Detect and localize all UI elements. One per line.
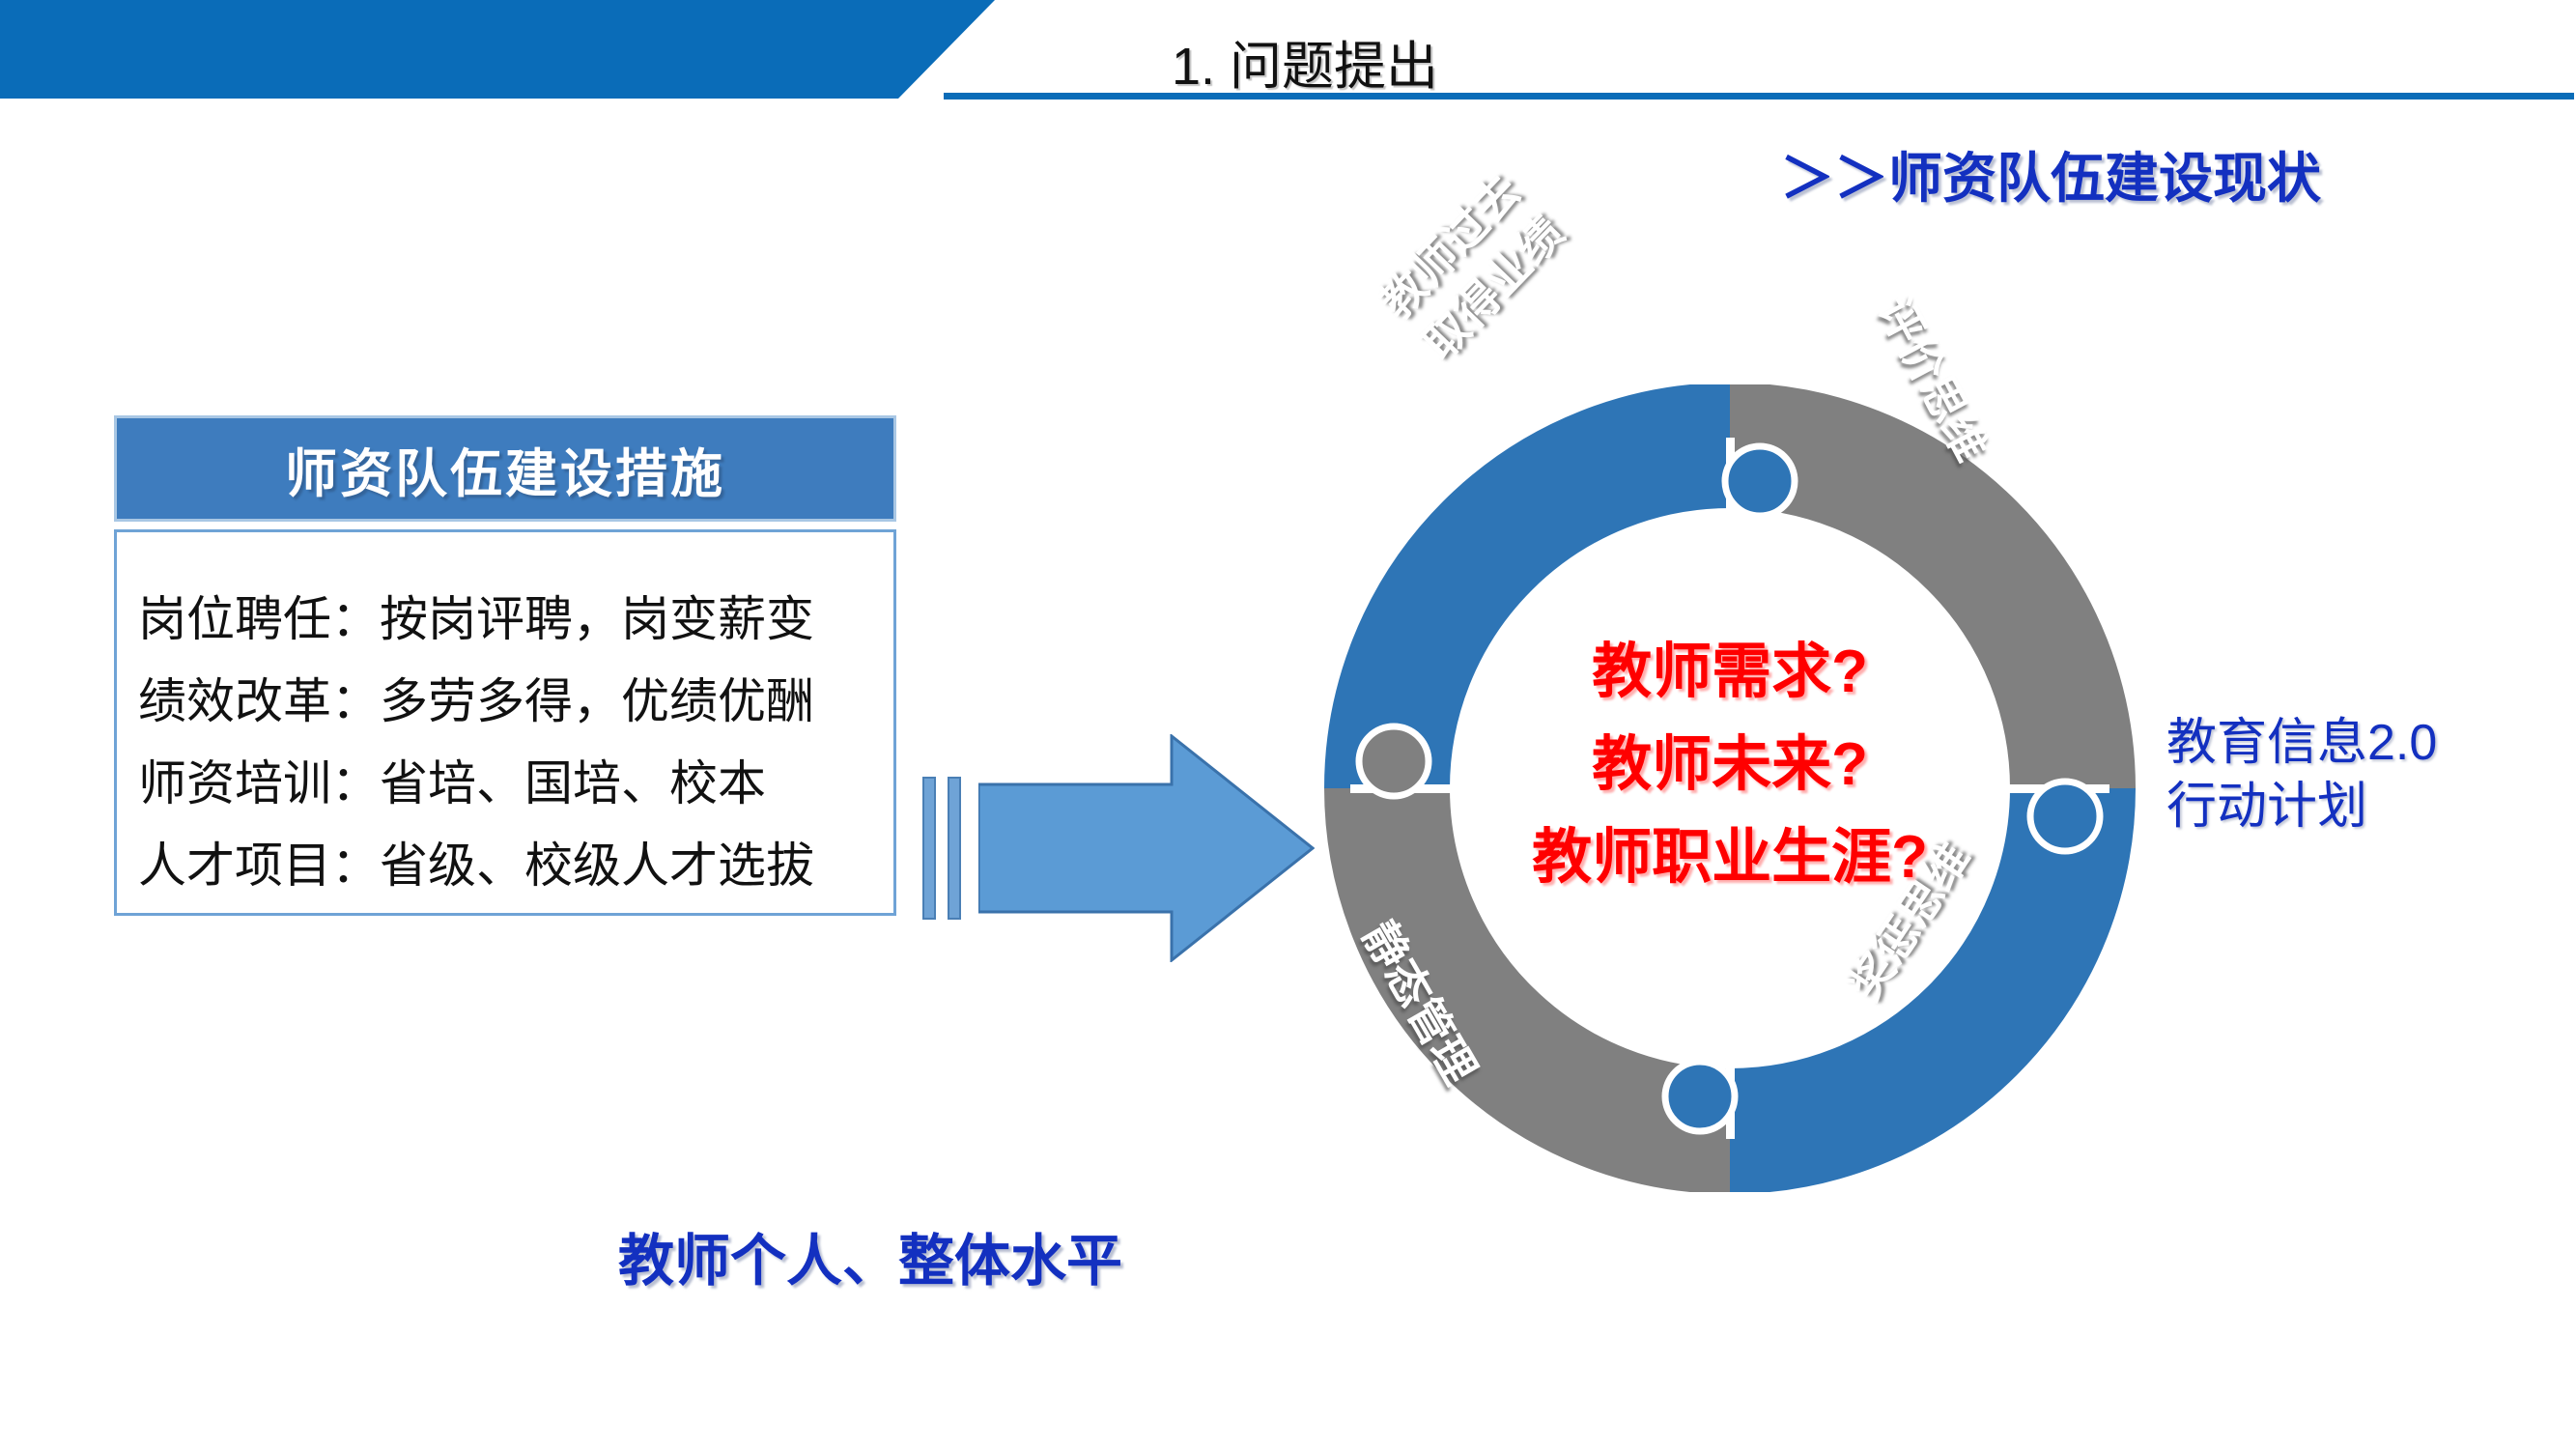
center-question-line: 教师未来? xyxy=(1461,719,1998,811)
puzzle-knob-bottom xyxy=(1665,1062,1735,1131)
center-question-line: 教师职业生涯? xyxy=(1461,811,1998,904)
measure-line: 师资培训：省培、国培、校本 xyxy=(138,743,893,825)
note-teacher-level: 教师个人、整体水平 xyxy=(618,1215,1122,1296)
arrow-tail-bar-2 xyxy=(948,777,961,920)
slide-canvas: 一、信息化背景下师资管理 1. 问题提出 ＞＞师资队伍建设现状 师资队伍建设措施… xyxy=(0,0,2576,1450)
note-current-status: ＞＞师资队伍建设现状 xyxy=(1780,135,2321,213)
header-banner xyxy=(0,0,995,99)
puzzle-knob-left xyxy=(1359,726,1429,796)
puzzle-knob-top xyxy=(1725,446,1795,516)
note-education-info-plan: 教育信息2.0 行动计划 xyxy=(2166,711,2437,839)
puzzle-knob-right xyxy=(2030,782,2100,851)
measures-card: 师资队伍建设措施 岗位聘任：按岗评聘，岗变薪变 绩效改革：多劳多得，优绩优酬 师… xyxy=(114,415,896,916)
measures-card-header: 师资队伍建设措施 xyxy=(114,415,896,522)
center-question-line: 教师需求? xyxy=(1461,626,1998,719)
arrow-tail-bar-1 xyxy=(922,777,936,920)
note-line: 教育信息2.0 xyxy=(2166,711,2437,775)
section-title: 1. 问题提出 xyxy=(1172,23,1438,100)
measure-line: 岗位聘任：按岗评聘，岗变薪变 xyxy=(138,579,893,661)
measure-line: 人才项目：省级、校级人才选拔 xyxy=(138,825,893,907)
measures-card-title: 师资队伍建设措施 xyxy=(285,431,725,507)
note-line: 行动计划 xyxy=(2166,775,2437,839)
measures-card-body: 岗位聘任：按岗评聘，岗变薪变 绩效改革：多劳多得，优绩优酬 师资培训：省培、国培… xyxy=(114,529,896,916)
arrow-head-icon xyxy=(978,734,1315,962)
measure-line: 绩效改革：多劳多得，优绩优酬 xyxy=(138,661,893,743)
center-questions: 教师需求? 教师未来? 教师职业生涯? xyxy=(1461,626,1998,904)
segment-label-top-left: 教师过去 取得业绩 xyxy=(1367,162,1576,373)
